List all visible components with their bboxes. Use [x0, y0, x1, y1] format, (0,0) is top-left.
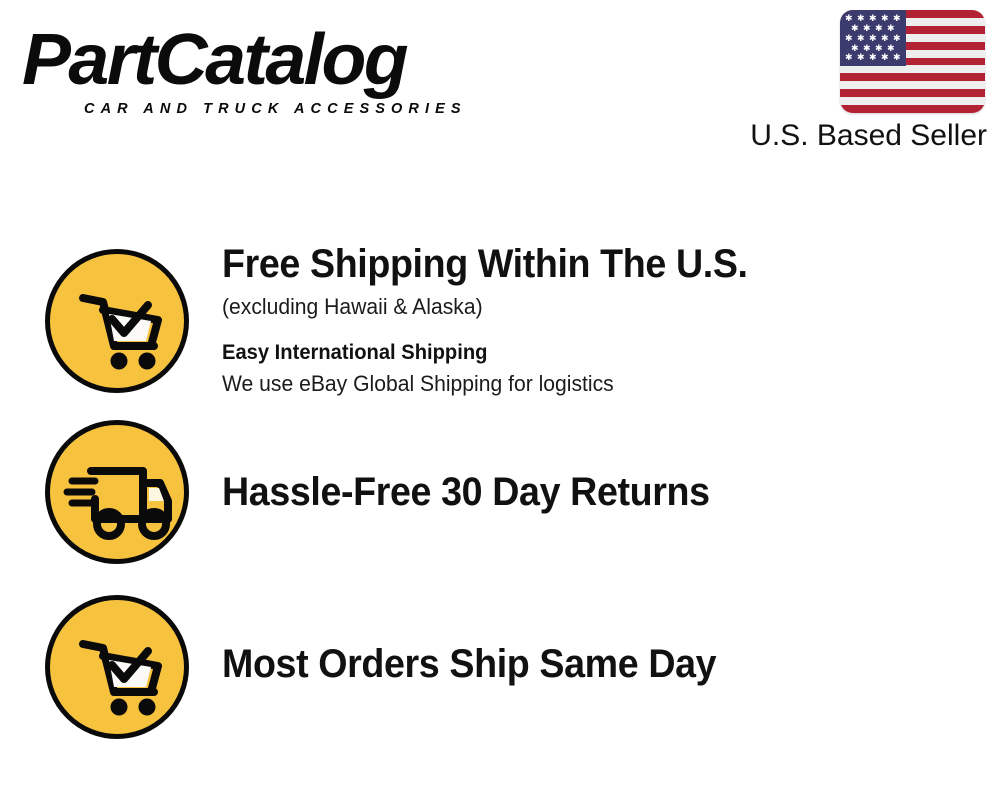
- flag-star: ✱: [875, 25, 883, 34]
- feature-text-block: Hassle-Free 30 Day Returns: [222, 468, 982, 516]
- flag-star: ✱: [857, 35, 865, 44]
- feature-title: Free Shipping Within The U.S.: [222, 240, 936, 288]
- flag-star: ✱: [869, 15, 877, 24]
- flag-star: ✱: [881, 15, 889, 24]
- flag-star: ✱: [845, 15, 853, 24]
- brand-logo[interactable]: PartCatalog CAR AND TRUCK ACCESSORIES: [22, 24, 492, 116]
- flag-star: ✱: [881, 54, 889, 63]
- feature-text-block: Most Orders Ship Same Day: [222, 640, 982, 688]
- page-header: PartCatalog CAR AND TRUCK ACCESSORIES ✱ …: [0, 0, 1000, 175]
- flag-star: ✱: [893, 54, 901, 63]
- brand-wordmark: PartCatalog: [22, 24, 406, 96]
- flag-stripe: [840, 89, 985, 97]
- feature-row: Hassle-Free 30 Day Returns: [0, 415, 1000, 570]
- flag-stripe: [840, 105, 985, 113]
- flag-star: ✱: [881, 35, 889, 44]
- brand-tagline: CAR AND TRUCK ACCESSORIES: [84, 100, 467, 118]
- flag-star: ✱: [893, 15, 901, 24]
- flag-star: ✱: [845, 35, 853, 44]
- delivery-truck-icon: [45, 420, 189, 564]
- feature-title: Hassle-Free 30 Day Returns: [222, 468, 936, 516]
- feature-subtitle: Easy International Shipping: [222, 338, 952, 368]
- flag-star: ✱: [887, 25, 895, 34]
- flag-star: ✱: [893, 35, 901, 44]
- flag-star: ✱: [857, 54, 865, 63]
- feature-text-block: Free Shipping Within The U.S. (excluding…: [222, 240, 982, 399]
- flag-stripe: [840, 73, 985, 81]
- feature-title: Most Orders Ship Same Day: [222, 640, 936, 688]
- shopping-cart-check-icon: [45, 249, 189, 393]
- flag-star: ✱: [851, 25, 859, 34]
- feature-detail: We use eBay Global Shipping for logistic…: [222, 369, 952, 399]
- flag-star: ✱: [857, 15, 865, 24]
- flag-star: ✱: [845, 54, 853, 63]
- feature-row: Free Shipping Within The U.S. (excluding…: [0, 240, 1000, 405]
- feature-row: Most Orders Ship Same Day: [0, 590, 1000, 745]
- flag-star: ✱: [869, 35, 877, 44]
- feature-note: (excluding Hawaii & Alaska): [222, 292, 952, 322]
- us-flag-icon: ✱ ✱ ✱ ✱ ✱ ✱ ✱ ✱ ✱ ✱ ✱ ✱ ✱ ✱ ✱ ✱ ✱ ✱ ✱ ✱ …: [840, 10, 985, 113]
- flag-star: ✱: [869, 54, 877, 63]
- us-based-seller-label: U.S. Based Seller: [725, 117, 987, 155]
- flag-star: ✱: [863, 25, 871, 34]
- shopping-cart-check-icon: [45, 595, 189, 739]
